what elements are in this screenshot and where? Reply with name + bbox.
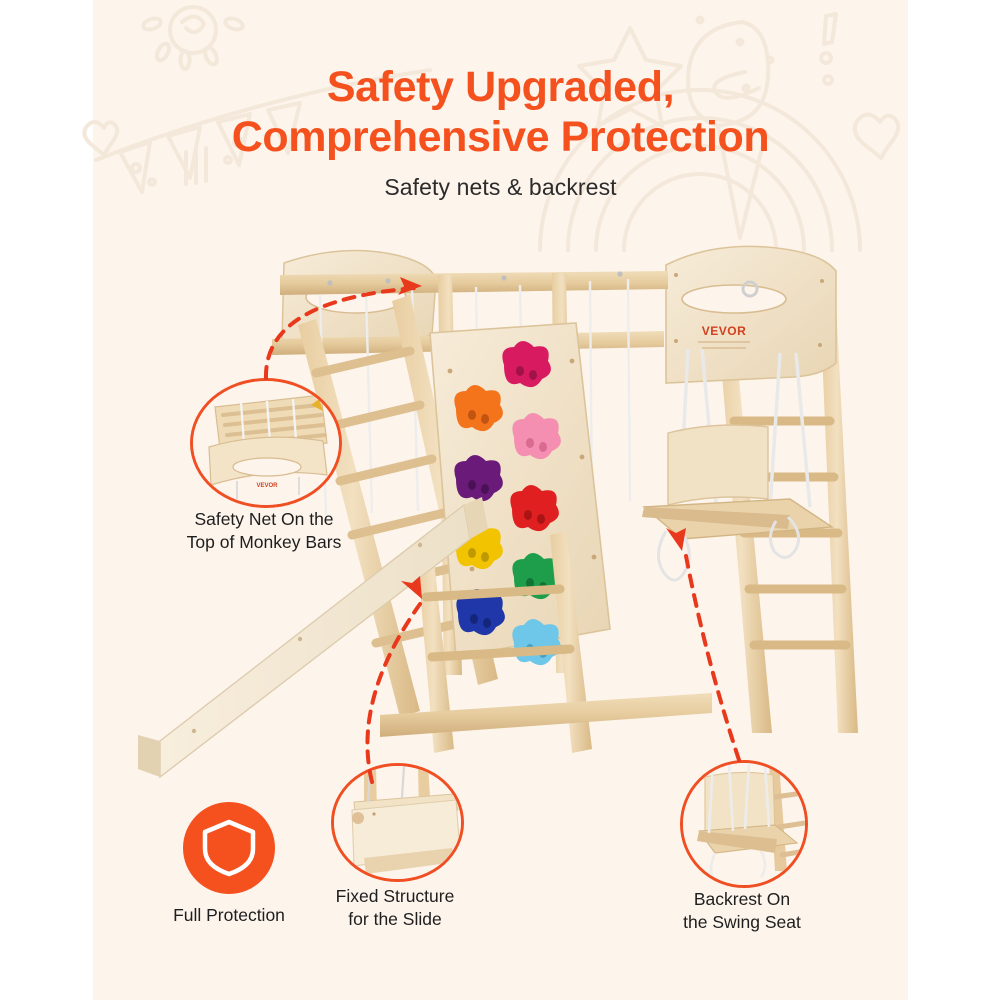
caption-safety-net-line2: Top of Monkey Bars bbox=[152, 531, 376, 554]
climbing-wall bbox=[430, 323, 610, 665]
brand-logo: VEVOR bbox=[702, 324, 747, 338]
caption-full-protection: Full Protection bbox=[129, 904, 329, 927]
inset-fixed-slide-image bbox=[334, 766, 461, 879]
caption-safety-net: Safety Net On the Top of Monkey Bars bbox=[152, 508, 376, 554]
caption-safety-net-line1: Safety Net On the bbox=[152, 508, 376, 531]
inset-safety-net-image: VEVOR bbox=[193, 381, 339, 505]
inset-brand-logo: VEVOR bbox=[256, 483, 278, 489]
full-protection-badge[interactable] bbox=[183, 802, 275, 894]
inset-swing-backrest-image bbox=[683, 763, 805, 885]
caption-swing-backrest: Backrest On the Swing Seat bbox=[629, 888, 855, 934]
caption-full-protection-line1: Full Protection bbox=[129, 904, 329, 927]
inset-safety-net[interactable]: VEVOR bbox=[190, 378, 342, 508]
caption-swing-backrest-line2: the Swing Seat bbox=[629, 911, 855, 934]
top-brand-panel: VEVOR bbox=[666, 246, 836, 383]
swing-backrest bbox=[668, 425, 768, 505]
caption-swing-backrest-line1: Backrest On bbox=[629, 888, 855, 911]
page-title-line2: Comprehensive Protection bbox=[93, 112, 908, 162]
inset-swing-backrest[interactable] bbox=[680, 760, 808, 888]
page-title-line1: Safety Upgraded, bbox=[93, 62, 908, 112]
page-subtitle: Safety nets & backrest bbox=[93, 174, 908, 201]
product-infographic: Safety Upgraded, Comprehensive Protectio… bbox=[0, 0, 1000, 1000]
inset-fixed-slide[interactable] bbox=[331, 763, 464, 882]
header-block: Safety Upgraded, Comprehensive Protectio… bbox=[93, 62, 908, 201]
hold bbox=[512, 619, 561, 665]
shield-icon bbox=[202, 819, 256, 877]
